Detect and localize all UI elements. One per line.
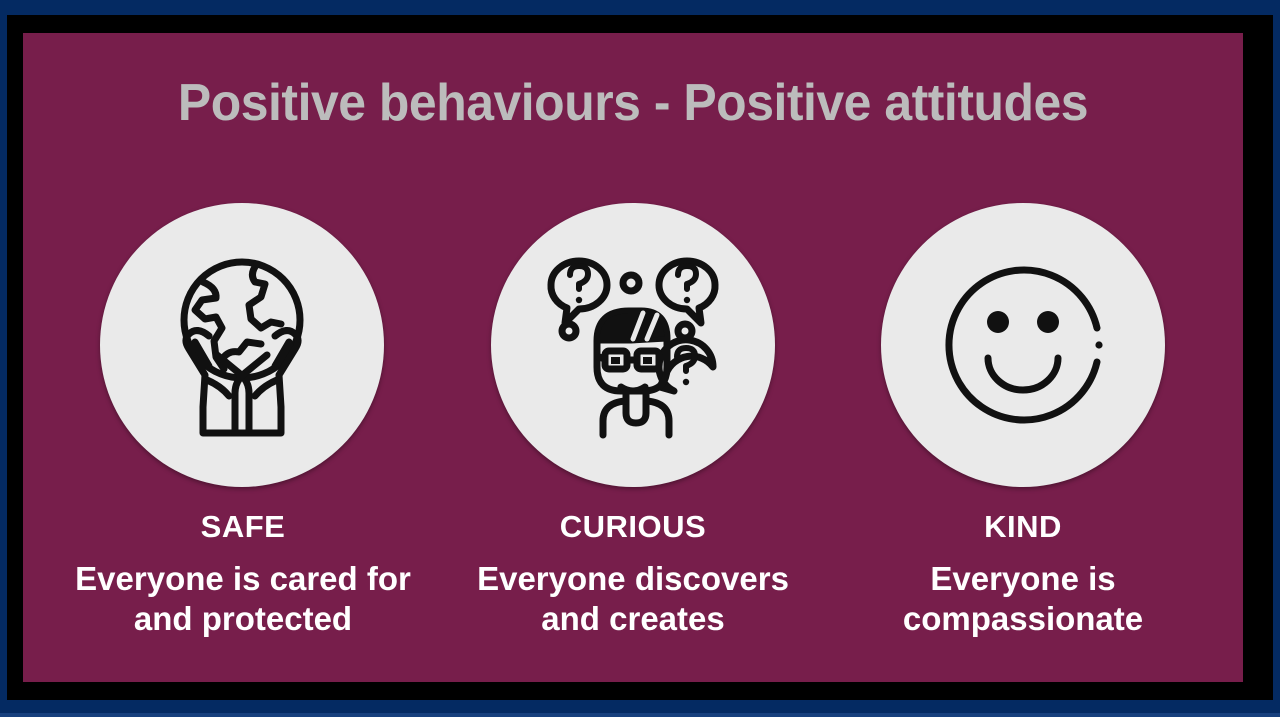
value-title-safe: SAFE: [201, 509, 286, 545]
smiley-face-icon: [920, 242, 1126, 448]
person-with-question-bubbles-icon: [527, 239, 739, 451]
left-border-band: [0, 15, 7, 700]
icon-badge-curious: [491, 203, 775, 487]
value-card-kind[interactable]: KIND Everyone is compassionate: [833, 203, 1213, 639]
icon-badge-kind: [881, 203, 1165, 487]
hands-holding-globe-icon: [137, 240, 347, 450]
value-description-curious: Everyone discovers and creates: [453, 559, 813, 639]
bottom-hairline: [0, 713, 1280, 717]
value-description-kind: Everyone is compassionate: [873, 559, 1173, 639]
value-card-curious[interactable]: CURIOUS Everyone discovers and creates: [433, 203, 833, 639]
value-title-curious: CURIOUS: [560, 509, 706, 545]
value-card-safe[interactable]: SAFE Everyone is cared for and protected: [53, 203, 433, 639]
slide-canvas: Positive behaviours - Positive attitudes: [23, 33, 1243, 682]
bottom-border-band: [0, 700, 1280, 713]
page-title: Positive behaviours - Positive attitudes: [47, 73, 1218, 133]
right-border-band: [1273, 15, 1280, 700]
icon-badge-safe: [100, 203, 384, 487]
value-description-safe: Everyone is cared for and protected: [63, 559, 423, 639]
top-border-band: [0, 0, 1280, 15]
value-title-kind: KIND: [984, 509, 1062, 545]
values-row: SAFE Everyone is cared for and protected: [23, 203, 1243, 682]
slide-frame: Positive behaviours - Positive attitudes: [0, 0, 1280, 717]
